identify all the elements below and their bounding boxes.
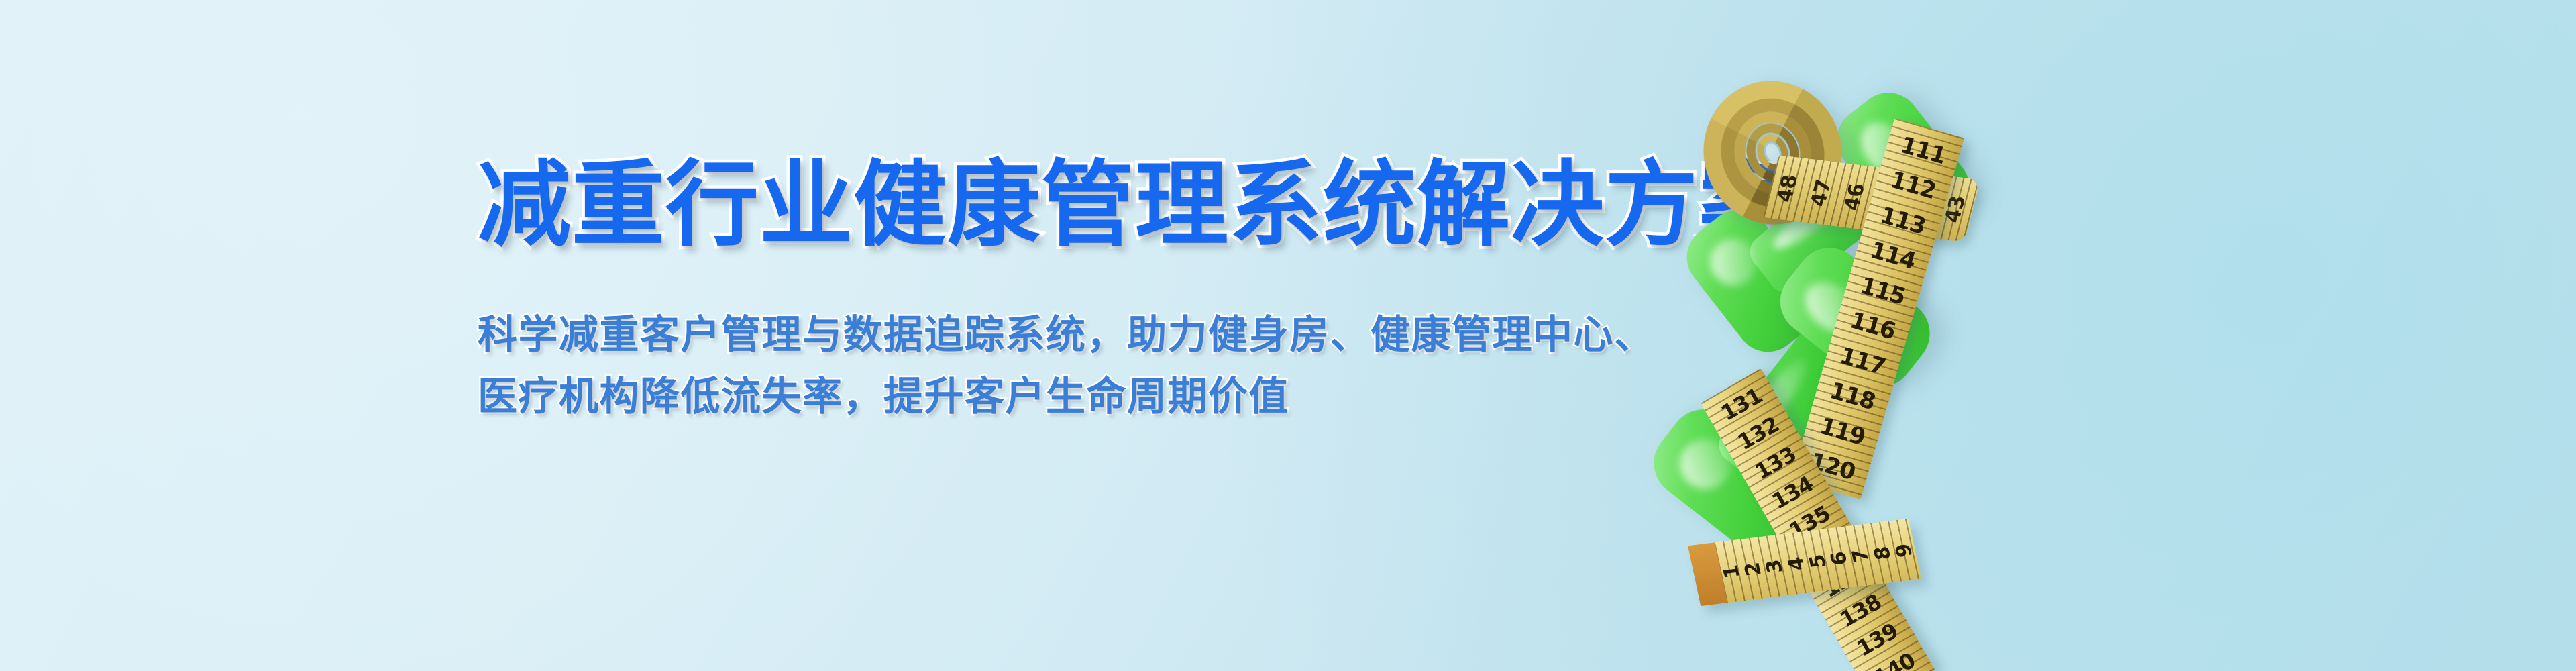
page-title: 减重行业健康管理系统解决方案 <box>478 158 1685 252</box>
tape-number: 47 <box>1805 174 1837 210</box>
hero-photo-dumbbells-tape: 48 47 46 45 44 43 111 112 113 114 115 11… <box>1670 0 2140 671</box>
tape-number: 48 <box>1772 170 1803 206</box>
hero-banner: 减重行业健康管理系统解决方案 科学减重客户管理与数据追踪系统，助力健身房、健康管… <box>0 0 2576 671</box>
tape-number: 46 <box>1839 179 1870 215</box>
subtitle-line-2: 医疗机构降低流失率，提升客户生命周期价值 <box>478 366 1685 427</box>
tape-number: 9 <box>1890 538 1919 562</box>
subtitle-line-1: 科学减重客户管理与数据追踪系统，助力健身房、健康管理中心、 <box>478 304 1685 366</box>
hero-subtitle: 科学减重客户管理与数据追踪系统，助力健身房、健康管理中心、 医疗机构降低流失率，… <box>478 304 1685 427</box>
hero-text-block: 减重行业健康管理系统解决方案 科学减重客户管理与数据追踪系统，助力健身房、健康管… <box>478 158 1685 427</box>
